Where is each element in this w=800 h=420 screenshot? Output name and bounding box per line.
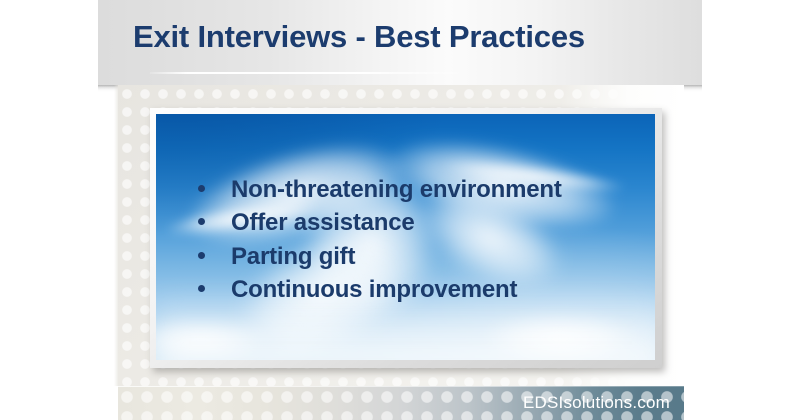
presentation-slide: Exit Interviews - Best Practices Non-thr… [0,0,800,420]
list-item: Parting gift [198,243,562,271]
list-item: Continuous improvement [198,276,562,304]
bullet-text: Offer assistance [231,209,415,237]
bullet-text: Parting gift [231,243,355,271]
bullet-text: Non-threatening environment [231,176,562,204]
bullet-dot-icon [198,285,205,292]
bullet-dot-icon [198,185,205,192]
slide-footer-band: EDSIsolutions.com [118,386,684,420]
cloud-lower-left [156,321,266,360]
list-item: Non-threatening environment [198,176,562,204]
bullet-dot-icon [198,218,205,225]
page-title: Exit Interviews - Best Practices [133,19,585,55]
title-underline-rule [150,72,460,74]
footer-top-highlight [118,386,684,387]
list-item: Offer assistance [198,209,562,237]
footer-brand-label: EDSIsolutions.com [523,393,670,413]
sky-photo: Non-threatening environment Offer assist… [156,114,655,360]
photo-frame: Non-threatening environment Offer assist… [150,108,662,368]
bullet-list: Non-threatening environment Offer assist… [198,176,562,309]
bullet-dot-icon [198,252,205,259]
bullet-text: Continuous improvement [231,276,517,304]
